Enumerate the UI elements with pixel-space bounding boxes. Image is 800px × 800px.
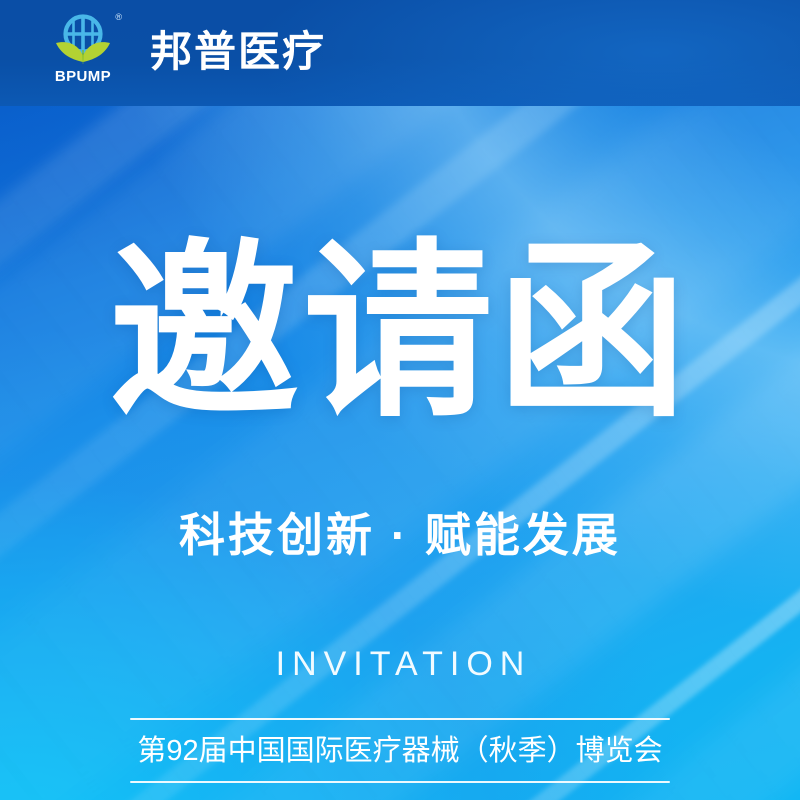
event-name: 第92届中国国际医疗器械（秋季）博览会	[130, 720, 670, 781]
event-footer: 第92届中国国际医疗器械（秋季）博览会	[130, 718, 670, 783]
page-title: 邀请函	[0, 238, 800, 428]
footer-divider-bottom	[130, 781, 670, 783]
invitation-poster: ® BPUMP 邦普医疗 邀请函 科技创新 · 赋能发展 INVITATION …	[0, 0, 800, 800]
invitation-english-label: INVITATION	[0, 644, 800, 685]
poster-subtitle: 科技创新 · 赋能发展	[0, 508, 800, 563]
poster-content: 邀请函 科技创新 · 赋能发展 INVITATION 第92届中国国际医疗器械（…	[0, 0, 800, 800]
